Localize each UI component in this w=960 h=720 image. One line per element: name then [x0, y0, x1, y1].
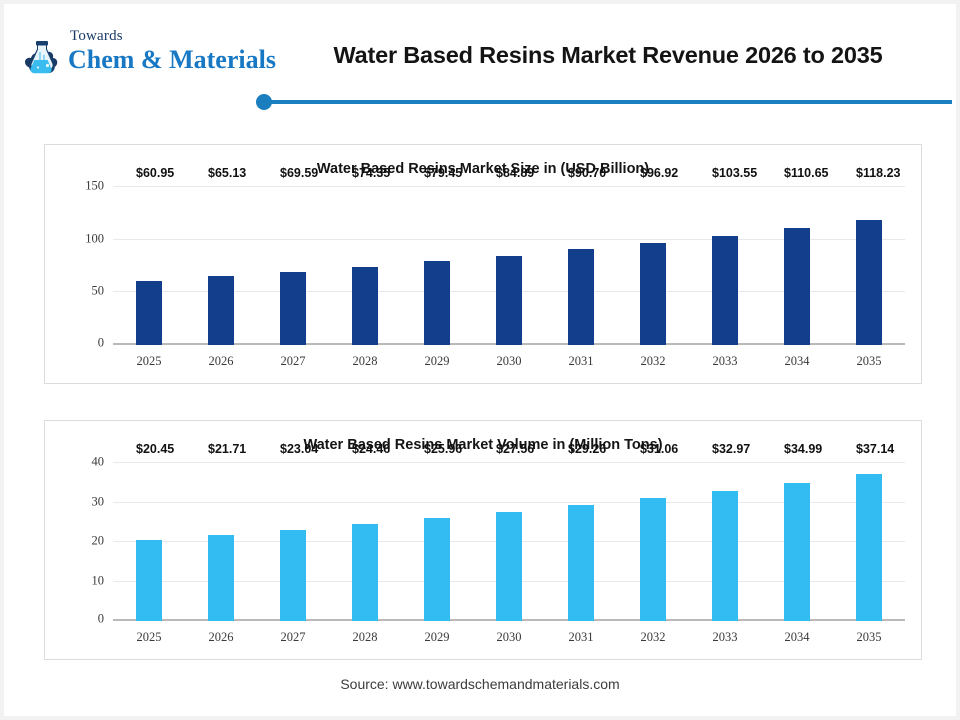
- bar-value-label: $84.89: [496, 166, 534, 180]
- y-axis-tick-label: 30: [92, 494, 105, 509]
- bar-value-label: $23.04: [280, 442, 318, 456]
- x-axis-tick-label: 2034: [761, 354, 833, 369]
- bar-value-label: $118.23: [856, 166, 901, 180]
- bar-value-label: $27.56: [496, 442, 534, 456]
- bar-value-label: $79.45: [424, 166, 462, 180]
- bar-group: $118.23: [833, 187, 905, 345]
- bar-value-label: $103.55: [712, 166, 757, 180]
- y-axis-tick-label: 20: [92, 534, 105, 549]
- x-axis-tick-label: 2030: [473, 630, 545, 645]
- plot-area-market-volume: 010203040 $20.45$21.71$23.04$24.46$25.96…: [113, 463, 905, 621]
- bar: $24.46: [352, 524, 378, 621]
- x-axis-tick-label: 2027: [257, 630, 329, 645]
- bar-group: $74.35: [329, 187, 401, 345]
- bar-value-label: $34.99: [784, 442, 822, 456]
- bar: $37.14: [856, 474, 882, 621]
- x-axis-tick-label: 2029: [401, 354, 473, 369]
- bar-group: $27.56: [473, 463, 545, 621]
- x-axis-tick-label: 2030: [473, 354, 545, 369]
- bar-group: $79.45: [401, 187, 473, 345]
- bar: $118.23: [856, 220, 882, 345]
- y-axis-tick-label: 40: [92, 455, 105, 470]
- x-axis-tick-label: 2025: [113, 354, 185, 369]
- brand-line-chem-materials: Chem & Materials: [68, 45, 273, 74]
- x-axis-labels: 2025202620272028202920302031203220332034…: [113, 630, 905, 645]
- bar: $96.92: [640, 243, 666, 345]
- x-axis-tick-label: 2032: [617, 354, 689, 369]
- bar-group: $110.65: [761, 187, 833, 345]
- bar-value-label: $60.95: [136, 166, 174, 180]
- bar: $110.65: [784, 228, 810, 345]
- bar-value-label: $29.26: [568, 442, 606, 456]
- x-axis-tick-label: 2029: [401, 630, 473, 645]
- bar-value-label: $31.06: [640, 442, 678, 456]
- x-axis-tick-label: 2032: [617, 630, 689, 645]
- bar: $90.70: [568, 249, 594, 345]
- x-axis-tick-label: 2028: [329, 354, 401, 369]
- bar: $32.97: [712, 491, 738, 621]
- bar: $29.26: [568, 505, 594, 621]
- bar-group: $37.14: [833, 463, 905, 621]
- header: Towards Chem & Materials Water Based Res…: [4, 4, 956, 114]
- bar-value-label: $90.70: [568, 166, 606, 180]
- bar: $23.04: [280, 530, 306, 621]
- bar-value-label: $65.13: [208, 166, 246, 180]
- source-note: Source: www.towardschemandmaterials.com: [4, 676, 956, 692]
- bar: $34.99: [784, 483, 810, 621]
- accent-rule: [260, 100, 952, 104]
- x-axis-tick-label: 2027: [257, 354, 329, 369]
- bar: $21.71: [208, 535, 234, 621]
- bar-group: $21.71: [185, 463, 257, 621]
- y-axis-tick-label: 10: [92, 573, 105, 588]
- bar-value-label: $32.97: [712, 442, 750, 456]
- x-axis-tick-label: 2035: [833, 354, 905, 369]
- x-axis-tick-label: 2033: [689, 630, 761, 645]
- x-axis-tick-label: 2026: [185, 630, 257, 645]
- y-axis-tick-label: 50: [92, 284, 105, 299]
- chart-panel-market-volume: Water Based Resins Market Volume in (Mil…: [44, 420, 922, 660]
- y-axis-tick-label: 0: [98, 336, 104, 351]
- bar: $27.56: [496, 512, 522, 621]
- bar-group: $103.55: [689, 187, 761, 345]
- bar-group: $29.26: [545, 463, 617, 621]
- bar: $60.95: [136, 281, 162, 345]
- bar-value-label: $21.71: [208, 442, 246, 456]
- bar-value-label: $110.65: [784, 166, 829, 180]
- bar: $74.35: [352, 267, 378, 345]
- bar-group: $65.13: [185, 187, 257, 345]
- bar-group: $23.04: [257, 463, 329, 621]
- plot-area-market-size: 050100150 $60.95$65.13$69.59$74.35$79.45…: [113, 187, 905, 345]
- bar-series-market-volume: $20.45$21.71$23.04$24.46$25.96$27.56$29.…: [113, 463, 905, 621]
- bar-group: $69.59: [257, 187, 329, 345]
- x-axis-tick-label: 2025: [113, 630, 185, 645]
- bar: $25.96: [424, 518, 450, 621]
- bar-series-market-size: $60.95$65.13$69.59$74.35$79.45$84.89$90.…: [113, 187, 905, 345]
- bar: $84.89: [496, 256, 522, 345]
- chart-panel-market-size: Water Based Resins Market Size in (USD B…: [44, 144, 922, 384]
- bar-group: $90.70: [545, 187, 617, 345]
- bar-group: $31.06: [617, 463, 689, 621]
- y-axis-tick-label: 0: [98, 612, 104, 627]
- bar-group: $25.96: [401, 463, 473, 621]
- bar-group: $24.46: [329, 463, 401, 621]
- bar-value-label: $25.96: [424, 442, 462, 456]
- y-axis-tick-label: 150: [85, 179, 104, 194]
- brand-logo: Towards Chem & Materials: [18, 28, 268, 84]
- bar-group: $96.92: [617, 187, 689, 345]
- x-axis-tick-label: 2034: [761, 630, 833, 645]
- bar-value-label: $96.92: [640, 166, 678, 180]
- bar-group: $32.97: [689, 463, 761, 621]
- x-axis-tick-label: 2035: [833, 630, 905, 645]
- x-axis-tick-label: 2026: [185, 354, 257, 369]
- x-axis-tick-label: 2031: [545, 354, 617, 369]
- bar: $20.45: [136, 540, 162, 621]
- bar-value-label: $37.14: [856, 442, 894, 456]
- bar: $103.55: [712, 236, 738, 345]
- brand-line-towards: Towards: [68, 28, 273, 45]
- brand-wordmark: Towards Chem & Materials: [68, 28, 273, 74]
- bar: $31.06: [640, 498, 666, 621]
- bar-group: $20.45: [113, 463, 185, 621]
- bar-value-label: $69.59: [280, 166, 318, 180]
- page-title: Water Based Resins Market Revenue 2026 t…: [272, 42, 944, 69]
- x-axis-tick-label: 2033: [689, 354, 761, 369]
- bar: $69.59: [280, 272, 306, 345]
- bar-group: $60.95: [113, 187, 185, 345]
- bar-value-label: $24.46: [352, 442, 390, 456]
- x-axis-tick-label: 2028: [329, 630, 401, 645]
- bar-group: $84.89: [473, 187, 545, 345]
- x-axis-tick-label: 2031: [545, 630, 617, 645]
- y-axis-tick-label: 100: [85, 231, 104, 246]
- flask-icon: [18, 34, 64, 80]
- bar-group: $34.99: [761, 463, 833, 621]
- x-axis-labels: 2025202620272028202920302031203220332034…: [113, 354, 905, 369]
- bar-value-label: $20.45: [136, 442, 174, 456]
- infographic-page: Towards Chem & Materials Water Based Res…: [0, 0, 960, 720]
- bar-value-label: $74.35: [352, 166, 390, 180]
- bar: $79.45: [424, 261, 450, 345]
- bar: $65.13: [208, 276, 234, 345]
